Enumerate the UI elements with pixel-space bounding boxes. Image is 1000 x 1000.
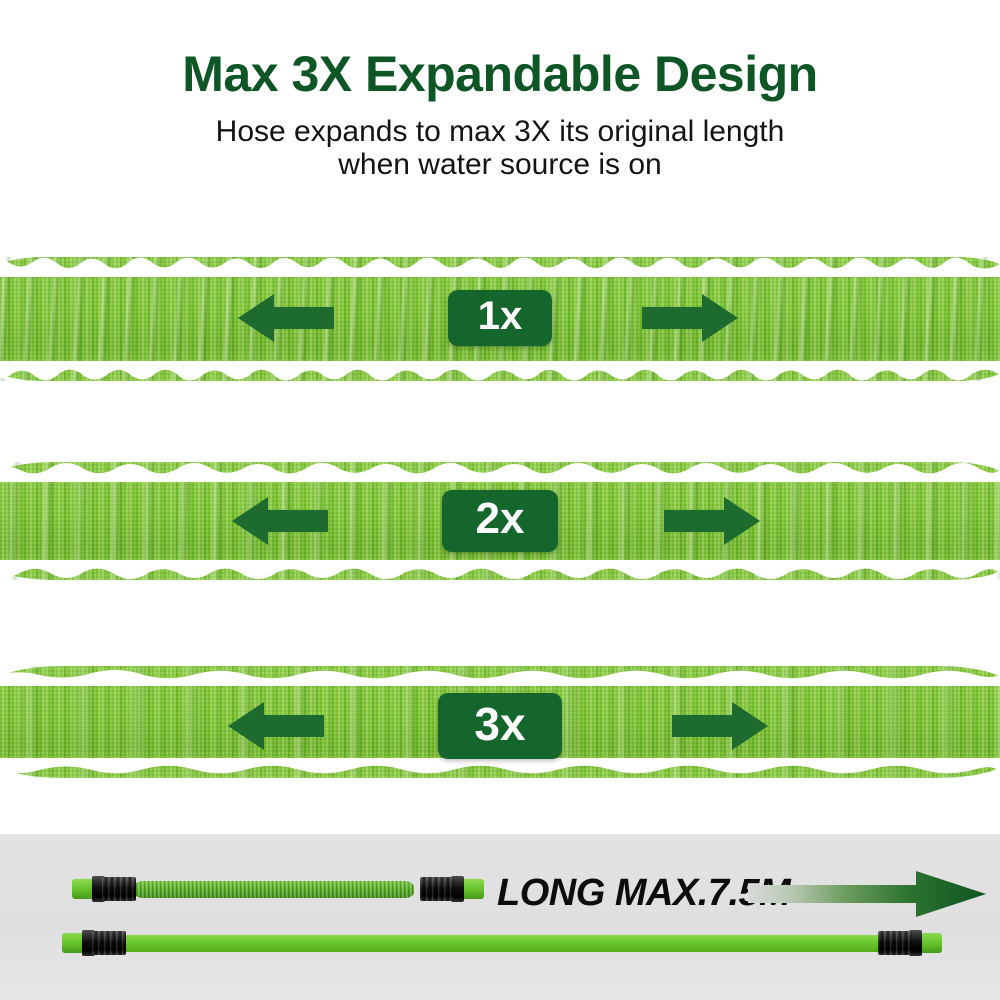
gradient-arrow-right-icon <box>748 870 986 918</box>
hose-cuff <box>920 933 942 953</box>
hose-collar <box>102 877 136 901</box>
multiplier-badge-2x: 2x <box>442 490 559 552</box>
multiplier-badge-1x: 1x <box>448 290 553 346</box>
subtitle-line-2: when water source is on <box>0 148 1000 182</box>
hose-collar <box>420 877 454 901</box>
hose-connector-left <box>62 930 128 956</box>
page-title: Max 3X Expandable Design <box>0 48 1000 101</box>
hose-collar <box>92 931 126 955</box>
hose-connector-right <box>876 930 942 956</box>
hose-stage-2x: 2x <box>0 446 1000 596</box>
multiplier-badge-3x: 3x <box>438 693 561 759</box>
arrow-left-icon <box>232 495 328 547</box>
subtitle-line-1: Hose expands to max 3X its original leng… <box>0 115 1000 149</box>
hose-connector-left <box>72 876 138 902</box>
expanded-hose-tube <box>120 935 910 952</box>
hose-cuff <box>62 933 84 953</box>
arrow-right-icon <box>672 700 768 752</box>
arrow-left-icon <box>238 292 334 344</box>
hose-cuff <box>72 879 94 899</box>
arrow-right-icon <box>664 495 760 547</box>
stage-marker-3x: 3x <box>0 648 1000 803</box>
header: Max 3X Expandable Design Hose expands to… <box>0 0 1000 182</box>
arrow-right-icon <box>642 292 738 344</box>
hose-collar <box>878 931 912 955</box>
arrow-left-icon <box>228 700 324 752</box>
stage-marker-2x: 2x <box>0 446 1000 596</box>
hose-stage-3x: 3x <box>0 648 1000 803</box>
expanded-hose-illustration <box>62 930 942 956</box>
compact-hose-illustration <box>72 876 484 902</box>
length-comparison-panel: LONG MAX.7.5M <box>0 834 1000 1000</box>
hose-cuff <box>462 879 484 899</box>
infographic-page: Max 3X Expandable Design Hose expands to… <box>0 0 1000 1000</box>
stage-marker-1x: 1x <box>0 243 1000 393</box>
max-length-label: LONG MAX.7.5M <box>497 874 790 912</box>
hose-connector-right <box>418 876 484 902</box>
compact-hose-fabric <box>134 881 414 898</box>
hose-stage-1x: 1x <box>0 243 1000 393</box>
